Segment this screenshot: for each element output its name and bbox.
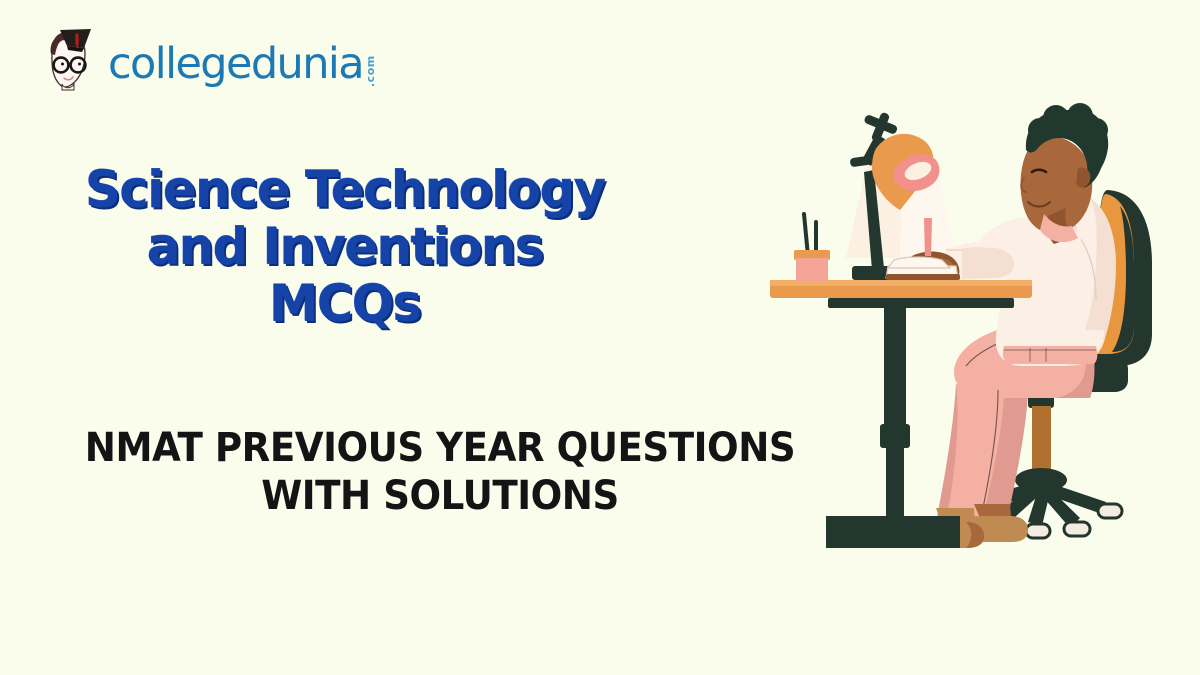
pencil-cup (796, 258, 828, 282)
page-title-line-2: and Inventions (10, 219, 679, 276)
page-subtitle: NMAT PREVIOUS YEAR QUESTIONS WITH SOLUTI… (0, 424, 880, 520)
page-subtitle-line-2: WITH SOLUTIONS (31, 472, 849, 520)
page-title-line-3: MCQs (10, 276, 679, 333)
graduate-cap-face-icon (38, 26, 100, 94)
page-subtitle-line-1: NMAT PREVIOUS YEAR QUESTIONS (31, 424, 849, 472)
page-title-line-1: Science Technology (10, 162, 679, 219)
site-logo[interactable]: collegedunia .com (38, 26, 376, 94)
page-title: Science Technology and Inventions MCQs (0, 162, 690, 333)
pen (924, 218, 932, 258)
logo-name-text: collegedunia (108, 43, 363, 86)
student-writing-at-desk-illustration (760, 98, 1190, 578)
logo-wordmark: collegedunia .com (108, 39, 376, 82)
logo-tld-text: .com (364, 53, 377, 87)
